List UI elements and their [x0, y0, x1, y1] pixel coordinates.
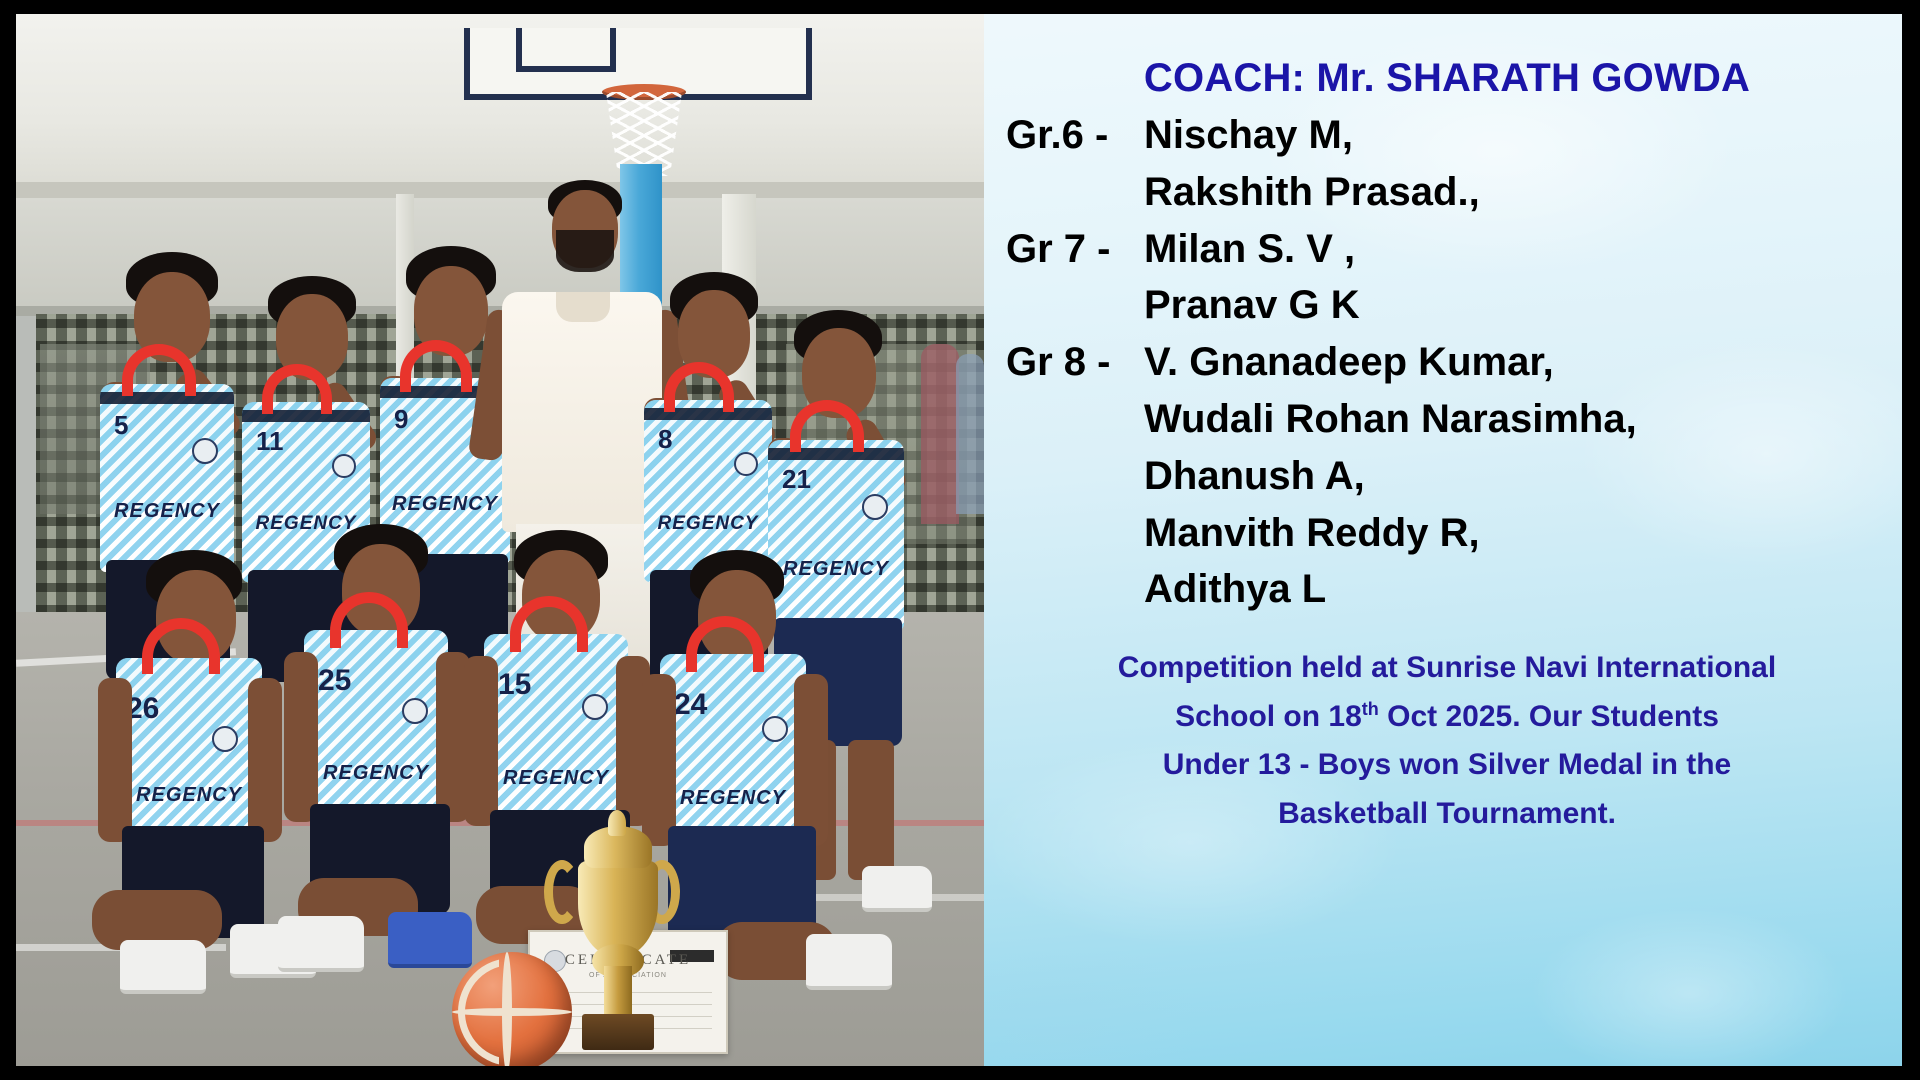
basketball-seam — [502, 952, 512, 1066]
player-roster: Gr.6 - Nischay M, Rakshith Prasad., Gr 7… — [992, 115, 1902, 610]
team-crest — [192, 438, 218, 464]
roster-player-name: Dhanush A, — [1144, 456, 1365, 497]
arm — [794, 674, 828, 846]
achievement-slide: 5 REGENCY 11 REGENCY — [0, 0, 1920, 1080]
team-crest — [734, 452, 758, 476]
team-crest — [212, 726, 238, 752]
jersey-brand-text: REGENCY — [380, 493, 510, 516]
jersey: 26 REGENCY — [116, 658, 262, 840]
team-crest — [402, 698, 428, 724]
roster-row: Gr 8 - V. Gnanadeep Kumar, — [992, 342, 1902, 383]
shoe — [278, 916, 364, 972]
jersey-number: 24 — [674, 688, 707, 722]
jersey-number: 9 — [394, 404, 408, 435]
event-caption: Competition held at Sunrise Navi Interna… — [992, 644, 1902, 838]
coach-collar — [556, 292, 610, 322]
jersey-number: 15 — [498, 668, 531, 702]
jersey-brand-text: REGENCY — [484, 767, 628, 790]
backboard-inner-square — [516, 28, 616, 72]
ordinal-suffix: th — [1362, 699, 1379, 719]
trophy-base — [582, 1014, 654, 1050]
caption-line-2-after: Oct 2025. Our Students — [1379, 700, 1719, 733]
caption-line-1: Competition held at Sunrise Navi Interna… — [1118, 651, 1776, 684]
jersey-brand-text: REGENCY — [768, 558, 904, 581]
jersey-brand-text: REGENCY — [644, 513, 772, 535]
coach-shirt — [502, 292, 662, 532]
caption-line-2-before: School on 18 — [1175, 700, 1362, 733]
arm — [464, 656, 498, 826]
trophy-handle — [544, 860, 580, 924]
team-crest — [762, 716, 788, 742]
roster-row: Wudali Rohan Narasimha, — [992, 399, 1902, 440]
team-photo: 5 REGENCY 11 REGENCY — [16, 14, 984, 1066]
frame-border-bottom — [0, 1066, 1920, 1080]
roster-row: Gr.6 - Nischay M, — [992, 115, 1902, 156]
jersey-number: 8 — [658, 424, 672, 455]
trophy-finial — [608, 810, 626, 836]
jersey-brand-text: REGENCY — [116, 784, 262, 807]
frame-border-right — [1902, 0, 1920, 1080]
shoe — [388, 912, 472, 968]
frame-border-top — [0, 0, 1920, 14]
coach-beard — [556, 230, 614, 272]
roster-player-name: Adithya L — [1144, 569, 1326, 610]
jersey-number: 11 — [256, 426, 284, 457]
roster-row: Dhanush A, — [992, 456, 1902, 497]
shoe — [120, 940, 206, 994]
shoe — [806, 934, 892, 990]
caption-line-4: Basketball Tournament. — [1278, 797, 1616, 830]
caption-line-3: Under 13 - Boys won Silver Medal in the — [1163, 748, 1731, 781]
jersey-brand-text: REGENCY — [100, 500, 234, 523]
arm — [642, 674, 676, 846]
jersey-fabric — [116, 658, 262, 840]
arm — [248, 678, 282, 842]
roof-edge — [16, 182, 984, 198]
roster-grade: Gr 8 - — [992, 342, 1144, 383]
roster-player-name: Milan S. V , — [1144, 229, 1355, 270]
team-crest — [582, 694, 608, 720]
arm — [284, 652, 318, 822]
jersey-number: 5 — [114, 410, 128, 441]
jersey: 25 REGENCY — [304, 630, 448, 814]
roster-row: Gr 7 - Milan S. V , — [992, 229, 1902, 270]
frame-border-left — [0, 0, 16, 1080]
leg — [848, 740, 894, 880]
jersey: 5 REGENCY — [100, 384, 234, 572]
jersey: 24 REGENCY — [660, 654, 806, 840]
roster-player-name: Pranav G K — [1144, 285, 1360, 326]
background-person — [956, 354, 984, 514]
team-crest — [332, 454, 356, 478]
jersey-number: 25 — [318, 664, 351, 698]
arm — [98, 678, 132, 842]
roster-player-name: Nischay M, — [1144, 115, 1353, 156]
jersey-brand-text: REGENCY — [304, 762, 448, 785]
team-crest — [862, 494, 888, 520]
jersey: 21 REGENCY — [768, 440, 904, 630]
basketball — [452, 952, 572, 1066]
background-person — [921, 344, 959, 524]
info-panel: COACH: Mr. SHARATH GOWDA Gr.6 - Nischay … — [992, 14, 1902, 1066]
jersey-fabric — [304, 630, 448, 814]
shoe — [862, 866, 932, 912]
roster-player-name: Rakshith Prasad., — [1144, 172, 1480, 213]
roster-grade: Gr 7 - — [992, 229, 1144, 270]
jersey-brand-text: REGENCY — [660, 787, 806, 810]
jersey-fabric — [484, 634, 628, 820]
roster-player-name: Wudali Rohan Narasimha, — [1144, 399, 1637, 440]
roster-row: Manvith Reddy R, — [992, 513, 1902, 554]
roster-player-name: Manvith Reddy R, — [1144, 513, 1480, 554]
coach-title: COACH: Mr. SHARATH GOWDA — [992, 56, 1902, 101]
roster-row: Pranav G K — [992, 285, 1902, 326]
roster-grade: Gr.6 - — [992, 115, 1144, 156]
roster-row: Adithya L — [992, 569, 1902, 610]
jersey-number: 21 — [782, 464, 811, 495]
jersey: 15 REGENCY — [484, 634, 628, 820]
roster-row: Rakshith Prasad., — [992, 172, 1902, 213]
jersey-fabric — [660, 654, 806, 840]
roster-player-name: V. Gnanadeep Kumar, — [1144, 342, 1554, 383]
